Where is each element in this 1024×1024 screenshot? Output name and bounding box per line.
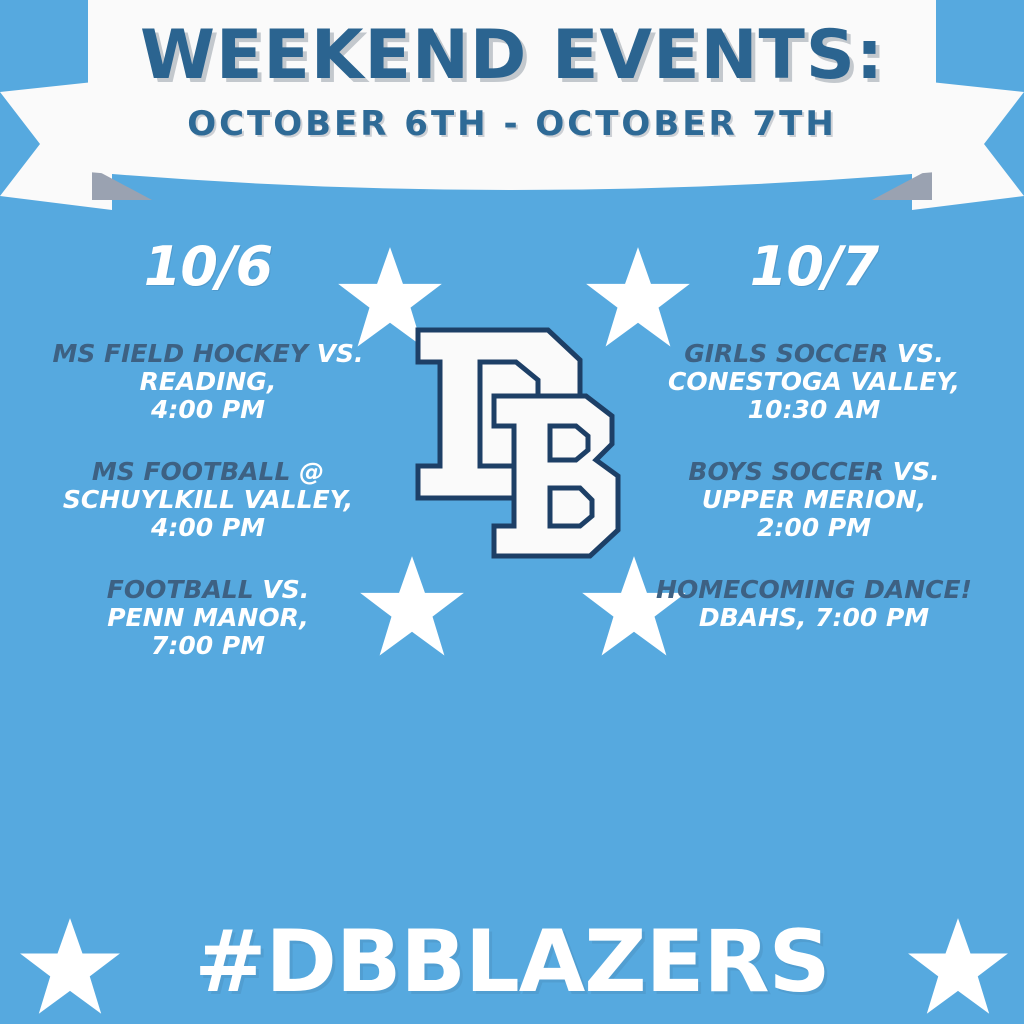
event-title: MS FOOTBALL @ [8, 458, 408, 486]
event-item: MS FIELD HOCKEY VS. READING, 4:00 PM [8, 340, 408, 424]
event-team: BOYS SOCCER [688, 457, 884, 486]
event-connector: VS. [897, 339, 944, 368]
event-team: MS FOOTBALL [92, 457, 291, 486]
events-column-day-two: 10/7 GIRLS SOCCER VS. CONESTOGA VALLEY, … [614, 240, 1014, 666]
poster-canvas: WEEKEND EVENTS: OCTOBER 6TH - OCTOBER 7T… [0, 0, 1024, 1024]
banner-ribbon [0, 0, 1024, 215]
footer-bar: #DBBLAZERS [0, 902, 1024, 1024]
event-item: GIRLS SOCCER VS. CONESTOGA VALLEY, 10:30… [614, 340, 1014, 424]
event-detail-line: UPPER MERION, [614, 486, 1014, 514]
db-monogram-logo [398, 318, 648, 576]
event-detail-line: DBAHS, 7:00 PM [614, 604, 1014, 632]
event-time: 4:00 PM [8, 514, 408, 542]
event-detail-line: SCHUYLKILL VALLEY, [8, 486, 408, 514]
hashtag-text: #DBBLAZERS [0, 912, 1024, 1012]
event-team: GIRLS SOCCER [684, 339, 888, 368]
event-title: GIRLS SOCCER VS. [614, 340, 1014, 368]
event-item: FOOTBALL VS. PENN MANOR, 7:00 PM [8, 576, 408, 660]
event-time: 4:00 PM [8, 396, 408, 424]
event-item: HOMECOMING DANCE! DBAHS, 7:00 PM [614, 576, 1014, 632]
column-date-heading: 10/6 [8, 240, 408, 294]
event-time: 7:00 PM [8, 632, 408, 660]
events-column-day-one: 10/6 MS FIELD HOCKEY VS. READING, 4:00 P… [8, 240, 408, 694]
event-time: 2:00 PM [614, 514, 1014, 542]
event-title: FOOTBALL VS. [8, 576, 408, 604]
event-time: 10:30 AM [614, 396, 1014, 424]
event-team: MS FIELD HOCKEY [52, 339, 308, 368]
event-title: MS FIELD HOCKEY VS. [8, 340, 408, 368]
event-detail-line: PENN MANOR, [8, 604, 408, 632]
event-team: HOMECOMING DANCE! [656, 575, 972, 604]
event-connector: VS. [893, 457, 940, 486]
event-team: FOOTBALL [107, 575, 254, 604]
logo-letter-b [494, 396, 618, 556]
event-item: BOYS SOCCER VS. UPPER MERION, 2:00 PM [614, 458, 1014, 542]
event-detail-line: CONESTOGA VALLEY, [614, 368, 1014, 396]
event-title: BOYS SOCCER VS. [614, 458, 1014, 486]
banner-panel [88, 0, 936, 190]
event-title: HOMECOMING DANCE! [614, 576, 1014, 604]
event-detail-line: READING, [8, 368, 408, 396]
event-connector: VS. [317, 339, 364, 368]
column-date-heading: 10/7 [614, 240, 1014, 294]
event-item: MS FOOTBALL @ SCHUYLKILL VALLEY, 4:00 PM [8, 458, 408, 542]
event-connector: VS. [262, 575, 309, 604]
event-connector: @ [299, 457, 324, 486]
